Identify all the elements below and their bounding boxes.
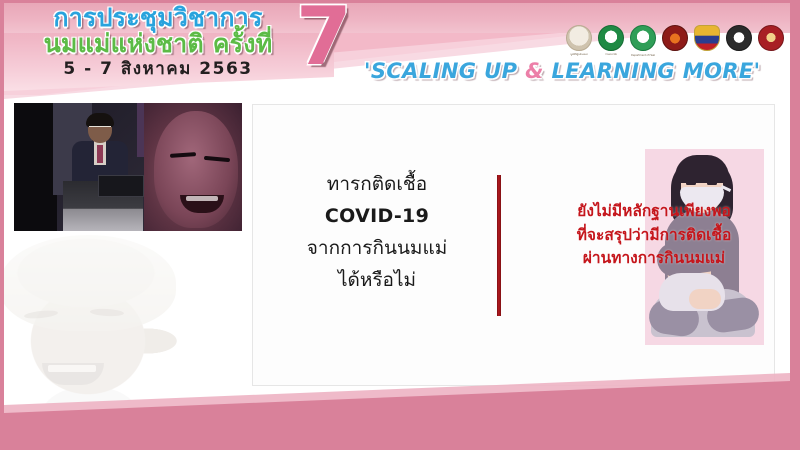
red-vertical-divider [497, 175, 501, 316]
nursing-council-logo [726, 25, 752, 51]
answer-line-1: ยังไม่มีหลักฐานเพียงพอ [509, 200, 790, 224]
sponsor-logos-row: มูลนิธิศูนย์นมแม่ กรมอนามัย Department o… [566, 25, 790, 51]
frame-edge-top [0, 0, 800, 3]
conference-title-line2: นมแม่แห่งชาติ ครั้งที่ [18, 31, 298, 56]
presentation-slide: การประชุมวิชาการ นมแม่แห่งชาติ ครั้งที่ … [4, 3, 790, 445]
question-line-2: COVID-19 [272, 201, 482, 233]
royal-thai-emblem-logo [694, 25, 720, 51]
baby-teeth-shape [48, 365, 96, 372]
video-baby-scene [144, 103, 242, 231]
answer-line-3: ผ่านทางการกินนมแม่ [509, 247, 790, 271]
conference-dates: 5 - 7 สิงหาคม 2563 [18, 61, 298, 78]
video-speaker-hair [86, 113, 114, 127]
mother-eye-left-shape [686, 182, 696, 185]
question-line-3: จากการกินนมแม่ [272, 233, 482, 265]
video-dark-wall [14, 103, 57, 231]
medical-association-logo [758, 25, 784, 51]
tagline-prefix: 'SCALING UP [364, 59, 525, 83]
video-speaker-scene [14, 103, 144, 231]
tagline-ampersand: & [525, 59, 544, 83]
video-baby-teeth [186, 196, 218, 201]
video-laptop [98, 175, 144, 197]
video-speaker-tie [97, 145, 103, 163]
ministry-public-health-logo: กรมอนามัย [598, 25, 624, 51]
speaker-video-overlay[interactable] [14, 103, 242, 231]
frame-edge-left [0, 0, 4, 450]
screenshot-root: การประชุมวิชาการ นมแม่แห่งชาติ ครั้งที่ … [0, 0, 800, 450]
mother-eye-right-shape [707, 182, 717, 185]
conference-tagline: 'SCALING UP & LEARNING MORE' [364, 59, 760, 83]
royal-patronage-logo: มูลนิธิศูนย์นมแม่ [566, 25, 592, 51]
question-line-4: ได้หรือไม่ [272, 265, 482, 297]
royal-college-pediatricians-logo [662, 25, 688, 51]
conference-edition-number: 7 [296, 3, 352, 77]
mother-hair-top-shape [675, 155, 729, 183]
tagline-suffix: LEARNING MORE' [544, 59, 761, 83]
conference-title-block: การประชุมวิชาการ นมแม่แห่งชาติ ครั้งที่ … [18, 5, 298, 78]
frame-edge-right [790, 0, 800, 450]
answer-text-block: ยังไม่มีหลักฐานเพียงพอ ที่จะสรุปว่ามีการ… [509, 200, 790, 271]
department-health-logo: Department of Health [630, 25, 656, 51]
mother-hand-shape [689, 289, 721, 309]
question-line-1: ทารกติดเชื้อ [272, 169, 482, 201]
conference-title-line1: การประชุมวิชาการ [18, 5, 298, 30]
answer-line-2: ที่จะสรุปว่ามีการติดเชื้อ [509, 224, 790, 248]
frame-edge-bottom [0, 445, 800, 450]
video-speaker-glasses [89, 126, 111, 132]
question-text-block: ทารกติดเชื้อ COVID-19 จากการกินนมแม่ ได้… [272, 169, 482, 297]
